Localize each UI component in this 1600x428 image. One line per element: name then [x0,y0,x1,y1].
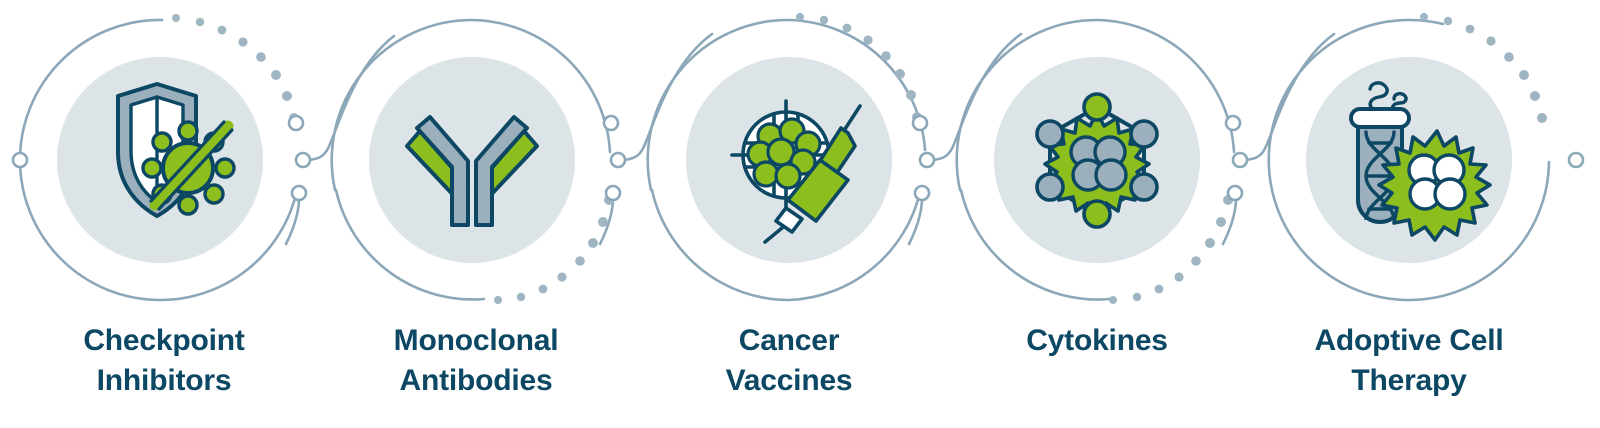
label-layer: Checkpoint Inhibitors Monoclonal Antibod… [83,324,1503,397]
cytokine-node-top [1084,94,1110,120]
cytokine-node-upper-right [1131,121,1157,147]
ring-node-1-top [289,116,303,130]
cytokine-node-lower-left [1037,174,1063,200]
label-cytokines-line1: Cytokines [1026,324,1168,357]
label-checkpoint-inhibitors-line1: Checkpoint [83,324,245,357]
ring-node-1-bot [292,186,306,200]
ring-node-4-bot [1228,186,1242,200]
label-monoclonal-antibodies-line2: Antibodies [400,364,553,397]
label-checkpoint-inhibitors-line2: Inhibitors [97,364,232,397]
ring-node-2-top [604,116,618,130]
immunotherapy-process-diagram: Checkpoint Inhibitors Monoclonal Antibod… [0,0,1600,428]
ring-node-3-top [913,116,927,130]
ring-node-edge-right [1569,153,1583,167]
node-disc-2[interactable] [369,57,575,263]
ring-node-2-bot [606,186,620,200]
ring-node-4-mid [1233,153,1247,167]
label-adoptive-cell-therapy-line1: Adoptive Cell [1314,324,1503,357]
cytokine-cell-nuclei [1071,137,1126,190]
label-cancer-vaccines-line2: Vaccines [726,364,853,397]
ring-node-3-bot [915,186,929,200]
cytokine-node-lower-right [1131,174,1157,200]
ring-node-2-mid [611,153,625,167]
tube-rim [1351,109,1409,127]
cytokine-node-upper-left [1037,121,1063,147]
label-monoclonal-antibodies-line1: Monoclonal [394,324,559,357]
ring-node-edge-left [13,153,27,167]
ring-node-1-mid [296,153,310,167]
cytokine-node-bottom [1084,201,1110,227]
ring-node-4-top [1226,116,1240,130]
ring-node-3-mid [920,153,934,167]
label-cancer-vaccines-line1: Cancer [739,324,840,357]
label-adoptive-cell-therapy-line2: Therapy [1351,364,1467,397]
infographic-canvas: Checkpoint Inhibitors Monoclonal Antibod… [0,0,1600,428]
